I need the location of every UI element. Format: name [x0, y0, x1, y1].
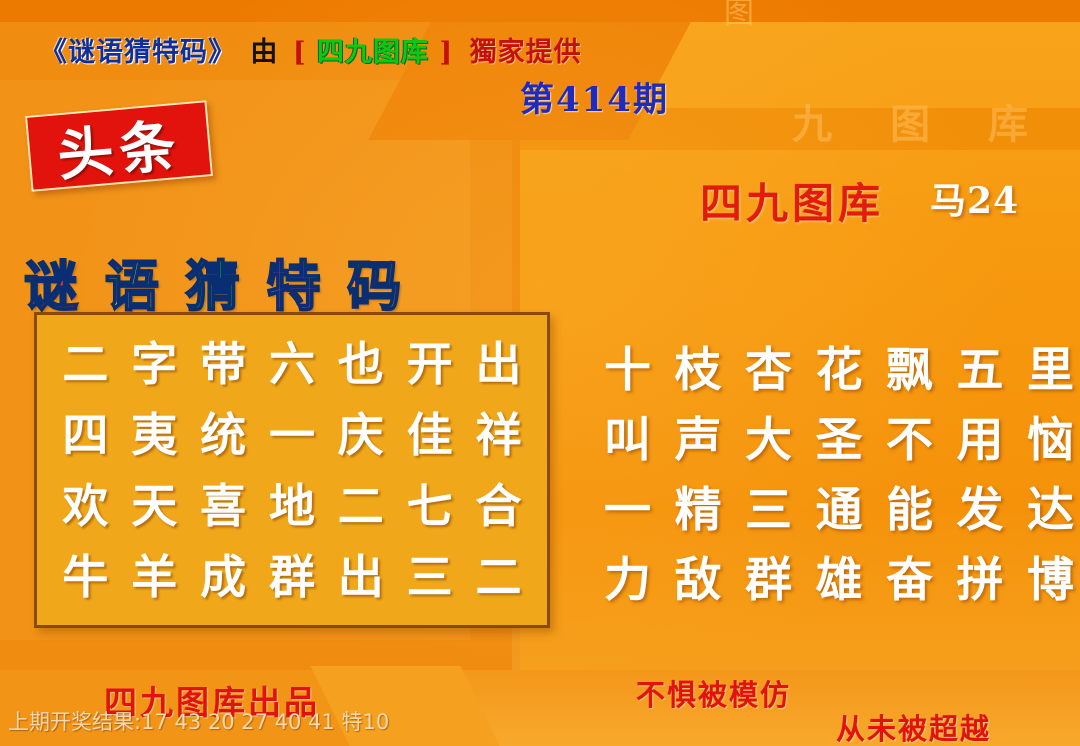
poem-row: 力 敌 群 雄 奋 拼 博: [604, 540, 1074, 610]
poem-char: 里: [1027, 331, 1074, 400]
poem-row: 十 枝 杏 花 飘 五 里: [604, 330, 1074, 400]
poster-canvas: 图 九 图 库 《谜语猜特码》 由 [ 四九图库 ] 獨家提供 第414期 头条…: [0, 0, 1080, 746]
riddle-char: 二: [475, 541, 521, 607]
riddle-char: 统: [200, 399, 246, 465]
poem-char: 敌: [675, 541, 722, 610]
riddle-char: 喜: [200, 470, 246, 536]
poem-char: 能: [886, 471, 933, 540]
riddle-char: 出: [338, 541, 384, 607]
last-draw-result: 上期开奖结果:17 43 20 27 40 41 特10: [8, 706, 389, 736]
poem-char: 奋: [886, 541, 933, 610]
poem-char: 大: [745, 401, 792, 470]
header-bracket-left: [: [293, 37, 307, 68]
poem-char: 十: [604, 331, 651, 400]
riddle-char: 带: [200, 328, 246, 394]
poem-char: 飘: [886, 331, 933, 400]
riddle-char: 七: [407, 470, 453, 536]
headline-stamp: 头条: [25, 100, 213, 192]
poem-char: 圣: [816, 401, 863, 470]
header-title: 《谜语猜特码》: [40, 30, 236, 69]
riddle-char: 群: [269, 541, 315, 607]
rainbow-char-5: 码: [347, 242, 405, 321]
riddle-char: 出: [475, 328, 521, 394]
rainbow-char-2: 语: [105, 242, 163, 321]
right-code: 马24: [930, 172, 1019, 224]
riddle-char: 地: [269, 470, 315, 536]
slogan-not-afraid: 不惧被模仿: [636, 672, 791, 714]
riddle-char: 一: [269, 399, 315, 465]
riddle-char: 合: [475, 470, 521, 536]
poem-char: 达: [1027, 471, 1074, 540]
poem-char: 花: [816, 331, 863, 400]
riddle-row: 欢 天 喜 地 二 七 合: [37, 467, 547, 538]
header-bracket-right: ]: [439, 37, 453, 68]
poem-char: 枝: [675, 331, 722, 400]
riddle-char: 二: [62, 328, 108, 394]
poem-char: 通: [816, 471, 863, 540]
watermark-top: 图: [724, 0, 754, 32]
riddle-row: 四 夷 统 一 庆 佳 祥: [37, 396, 547, 467]
headline-stamp-label: 头条: [27, 102, 211, 189]
riddle-char: 佳: [407, 399, 453, 465]
riddle-char: 二: [338, 470, 384, 536]
issue-number: 第414期: [520, 72, 669, 121]
riddle-row: 牛 羊 成 群 出 三 二: [37, 538, 547, 609]
poem-char: 雄: [816, 541, 863, 610]
header-by: 由: [250, 30, 278, 69]
header-exclusive: 獨家提供: [470, 30, 582, 69]
poem-char: 拼: [957, 541, 1004, 610]
poem-char: 发: [957, 471, 1004, 540]
riddle-box: 二 字 带 六 也 开 出 四 夷 统 一 庆 佳 祥 欢 天 喜 地 二 七 …: [34, 312, 550, 628]
riddle-char: 牛: [62, 541, 108, 607]
riddle-char: 庆: [338, 399, 384, 465]
poem-char: 杏: [745, 331, 792, 400]
rainbow-char-3: 猜: [186, 242, 244, 321]
poem-char: 用: [957, 401, 1004, 470]
riddle-char: 夷: [131, 399, 177, 465]
watermark-brand: 九 图 库: [792, 92, 1050, 150]
header-line: 《谜语猜特码》 由 [ 四九图库 ] 獨家提供: [40, 30, 582, 69]
rainbow-title: 谜 语 猜 特 码: [24, 242, 405, 321]
riddle-char: 字: [131, 328, 177, 394]
poem-char: 力: [604, 541, 651, 610]
riddle-row: 二 字 带 六 也 开 出: [37, 325, 547, 396]
riddle-char: 祥: [475, 399, 521, 465]
poem-char: 不: [886, 401, 933, 470]
poem-char: 叫: [604, 401, 651, 470]
rainbow-char-4: 特: [266, 242, 324, 321]
riddle-char: 成: [200, 541, 246, 607]
poem-char: 五: [957, 331, 1004, 400]
riddle-char: 也: [338, 328, 384, 394]
riddle-char: 欢: [62, 470, 108, 536]
poem-char: 声: [675, 401, 722, 470]
poem-char: 三: [745, 471, 792, 540]
poem-row: 一 精 三 通 能 发 达: [604, 470, 1074, 540]
header-brand: 四九图库: [317, 30, 429, 69]
riddle-char: 四: [62, 399, 108, 465]
riddle-char: 六: [269, 328, 315, 394]
riddle-char: 天: [131, 470, 177, 536]
riddle-char: 三: [407, 541, 453, 607]
riddle-char: 开: [407, 328, 453, 394]
poem-row: 叫 声 大 圣 不 用 恼: [604, 400, 1074, 470]
poem-char: 群: [745, 541, 792, 610]
right-brand: 四九图库: [700, 170, 884, 231]
slogan-never-surpassed: 从未被超越: [836, 706, 991, 746]
poem-char: 一: [604, 471, 651, 540]
poem-char: 博: [1027, 541, 1074, 610]
poem-char: 恼: [1027, 401, 1074, 470]
riddle-char: 羊: [131, 541, 177, 607]
rainbow-char-1: 谜: [24, 242, 82, 321]
poem-block: 十 枝 杏 花 飘 五 里 叫 声 大 圣 不 用 恼 一 精 三 通 能 发 …: [604, 330, 1074, 610]
poem-char: 精: [675, 471, 722, 540]
